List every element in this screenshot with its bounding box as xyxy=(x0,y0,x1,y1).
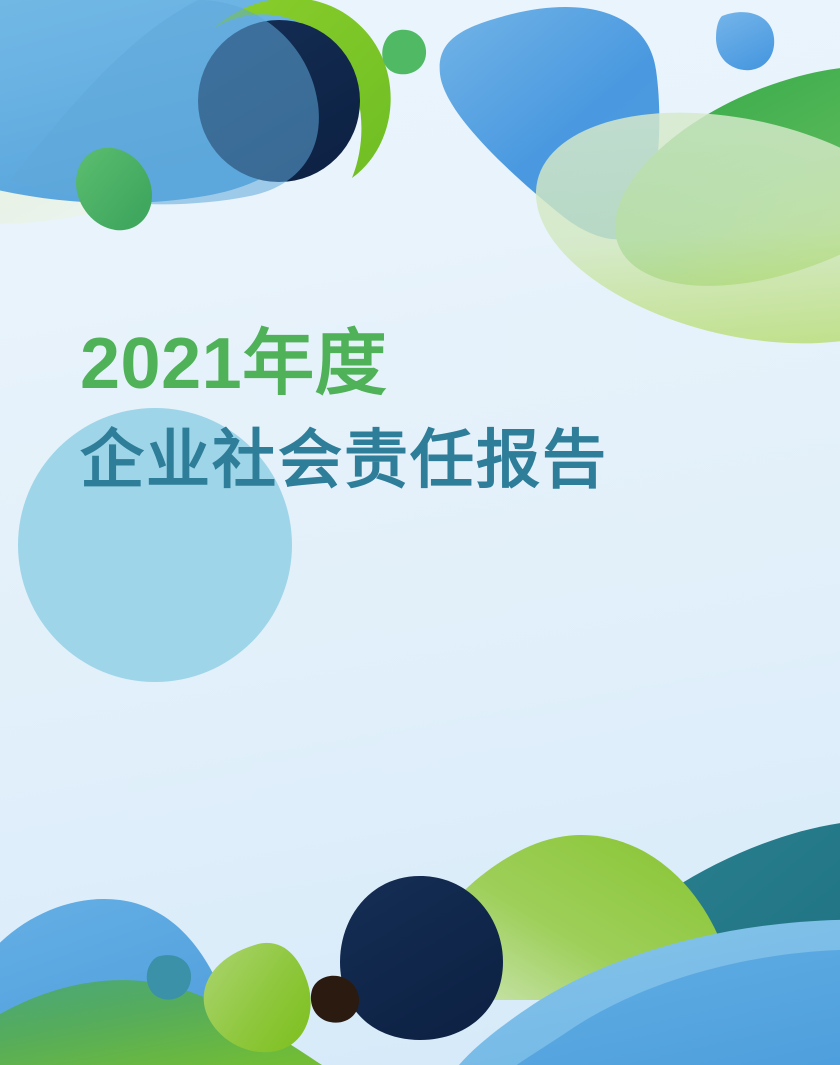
teal-dot-shape xyxy=(147,955,191,1000)
blue-teardrop-shape xyxy=(716,12,774,70)
decor-group-top-left xyxy=(0,0,426,244)
decorative-background-art xyxy=(0,0,840,1065)
report-cover-page: 2021年度 企业社会责任报告 xyxy=(0,0,840,1065)
cover-title-block: 2021年度 企业社会责任报告 xyxy=(80,322,780,500)
small-green-dot-shape xyxy=(382,30,426,75)
decor-group-bottom-left xyxy=(0,899,330,1065)
report-main-title: 企业社会责任报告 xyxy=(80,420,780,500)
decor-group-bottom-center xyxy=(311,876,503,1040)
report-year-title: 2021年度 xyxy=(80,322,780,406)
